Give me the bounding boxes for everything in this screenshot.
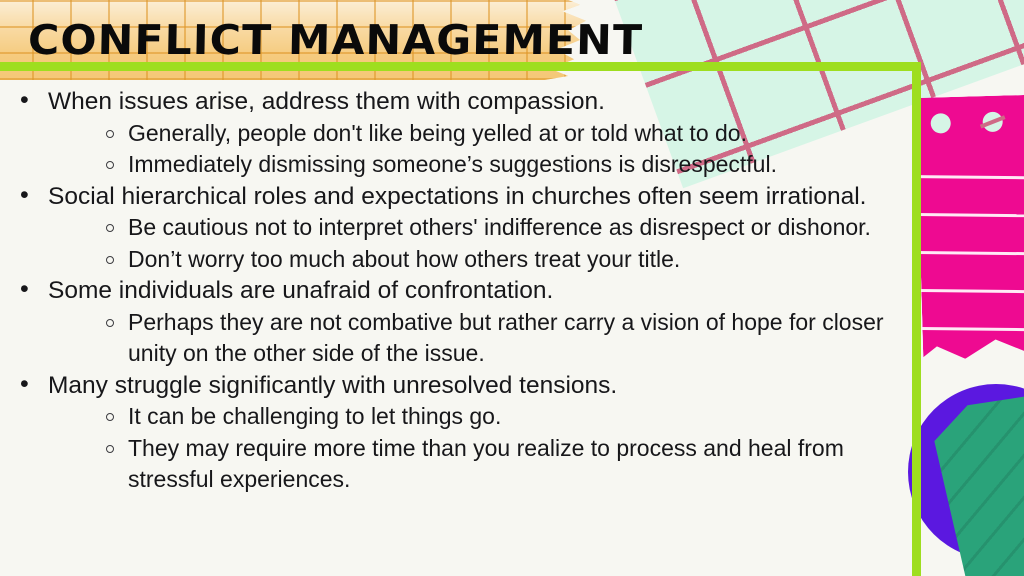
paper-rule-line: [916, 213, 1024, 218]
bullet-item: Some individuals are unafraid of confron…: [12, 275, 912, 370]
slide-canvas: Conflict Management When issues arise, a…: [0, 0, 1024, 576]
sub-bullet-text: Immediately dismissing someone’s suggest…: [128, 149, 912, 181]
bullet-list-level-1: When issues arise, address them with com…: [0, 86, 912, 496]
slide-body: When issues arise, address them with com…: [0, 86, 912, 496]
bullet-list-level-2: It can be challenging to let things go. …: [48, 401, 912, 496]
bullet-item: Many struggle significantly with unresol…: [12, 370, 912, 496]
sub-bullet-item: Perhaps they are not combative but rathe…: [100, 307, 912, 370]
sub-bullet-text: It can be challenging to let things go.: [128, 401, 912, 433]
paper-punch-hole-icon: [930, 113, 951, 134]
bullet-list-level-2: Perhaps they are not combative but rathe…: [48, 307, 912, 370]
sub-bullet-text: Be cautious not to interpret others' ind…: [128, 212, 912, 244]
paper-rule-line: [916, 251, 1024, 256]
bullet-list-level-2: Generally, people don't like being yelle…: [48, 118, 912, 181]
bullet-list-level-2: Be cautious not to interpret others' ind…: [48, 212, 912, 275]
bullet-text: When issues arise, address them with com…: [48, 86, 912, 118]
sub-bullet-item: Don’t worry too much about how others tr…: [100, 244, 912, 276]
bullet-item: When issues arise, address them with com…: [12, 86, 912, 181]
sub-bullet-item: It can be challenging to let things go.: [100, 401, 912, 433]
paper-punch-hole-icon: [982, 112, 1003, 133]
paper-rule-line: [916, 327, 1024, 332]
bullet-text: Social hierarchical roles and expectatio…: [48, 181, 912, 213]
sub-bullet-text: They may require more time than you real…: [128, 433, 912, 496]
frame-line-right: [912, 62, 921, 576]
paper-rule-line: [916, 289, 1024, 294]
sub-bullet-item: Immediately dismissing someone’s suggest…: [100, 149, 912, 181]
bullet-text: Some individuals are unafraid of confron…: [48, 275, 912, 307]
sub-bullet-item: They may require more time than you real…: [100, 433, 912, 496]
sub-bullet-text: Generally, people don't like being yelle…: [128, 118, 912, 150]
bullet-item: Social hierarchical roles and expectatio…: [12, 181, 912, 276]
sub-bullet-text: Perhaps they are not combative but rathe…: [128, 307, 912, 370]
sub-bullet-item: Be cautious not to interpret others' ind…: [100, 212, 912, 244]
bullet-text: Many struggle significantly with unresol…: [48, 370, 912, 402]
paper-rule-line: [916, 175, 1024, 180]
sub-bullet-item: Generally, people don't like being yelle…: [100, 118, 912, 150]
sub-bullet-text: Don’t worry too much about how others tr…: [128, 244, 912, 276]
page-title: Conflict Management: [28, 16, 644, 64]
magenta-notebook-paper-decoration: [916, 94, 1024, 360]
